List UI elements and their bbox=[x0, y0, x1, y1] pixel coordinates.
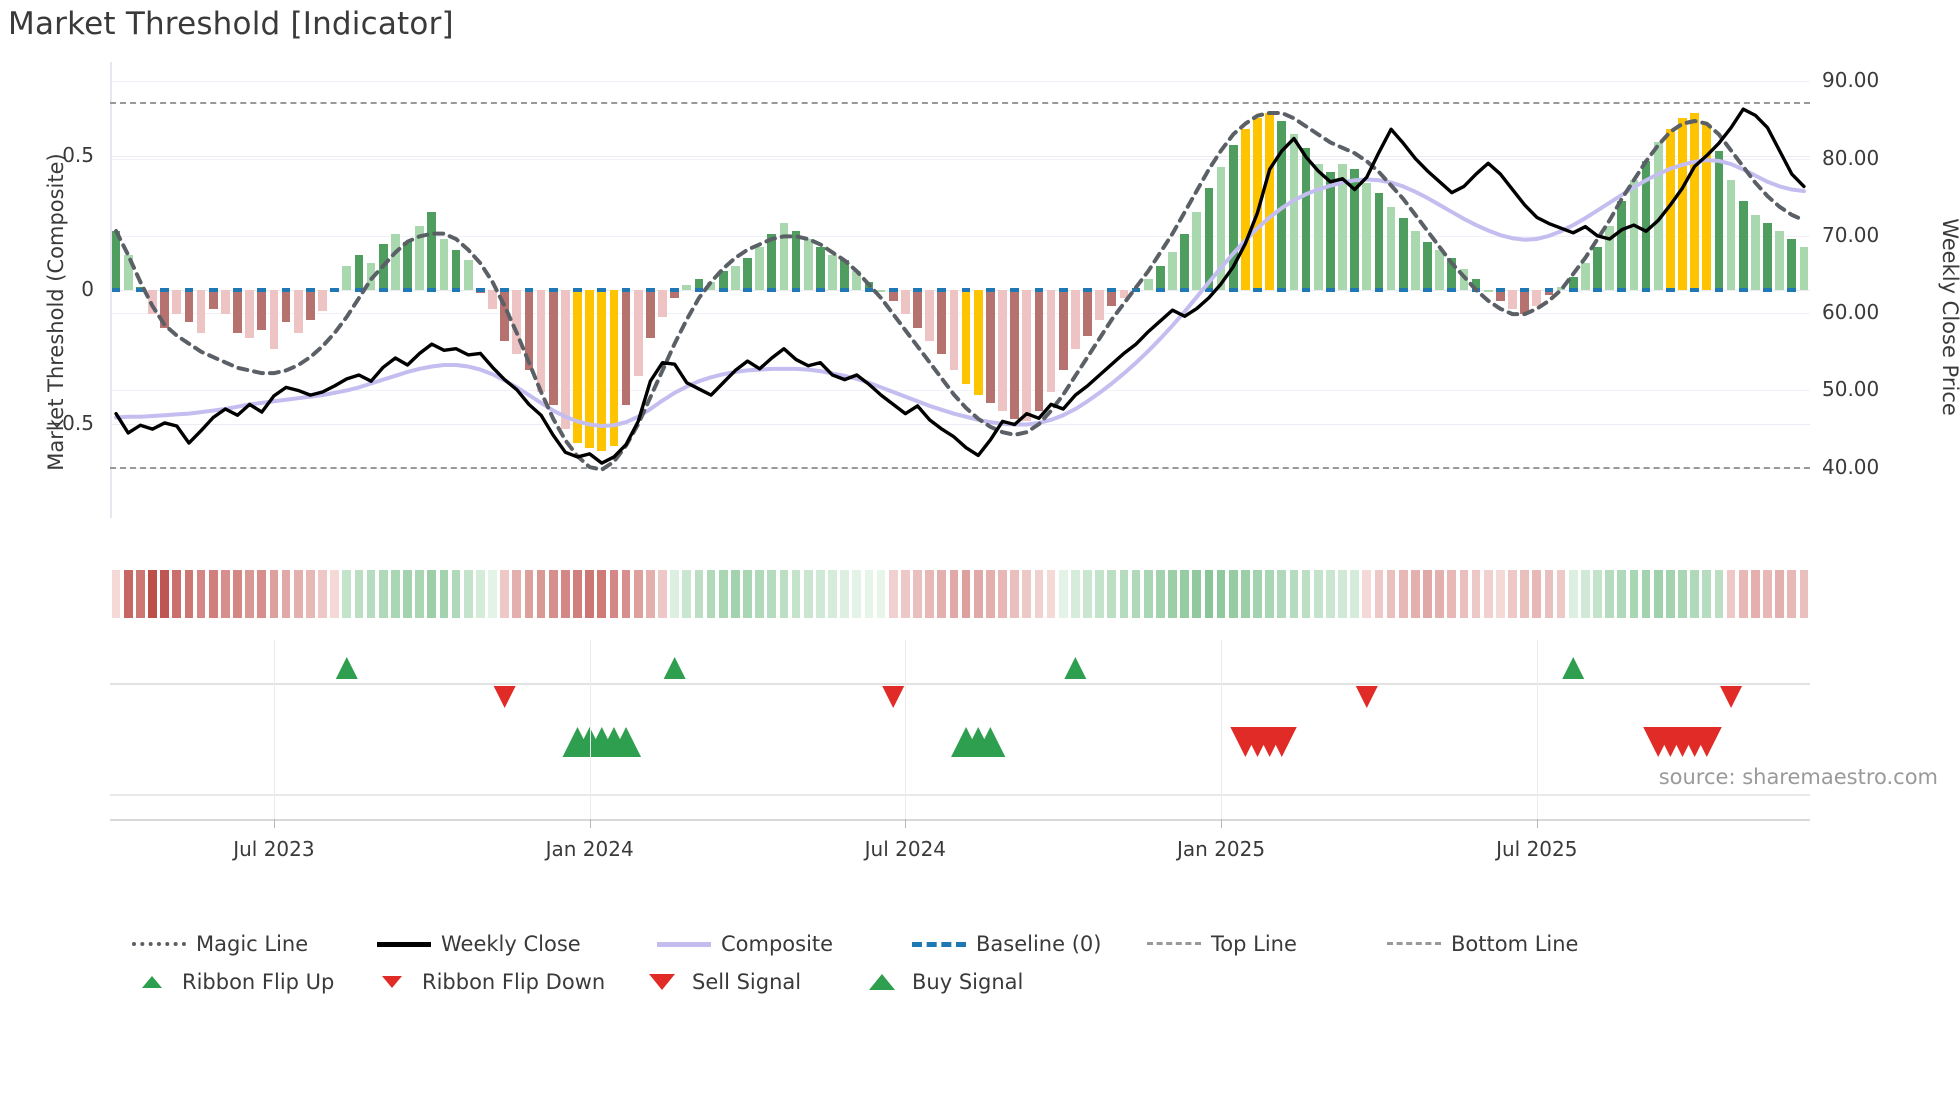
ribbon-cell bbox=[136, 570, 145, 618]
ribbon-cell bbox=[962, 570, 971, 618]
x-tick-mark bbox=[905, 819, 906, 828]
ribbon-cell bbox=[197, 570, 206, 618]
legend-swatch-line bbox=[912, 942, 966, 947]
x-tick-mark bbox=[590, 819, 591, 828]
ribbon-cell bbox=[1180, 570, 1189, 618]
x-tick-label: Jul 2023 bbox=[194, 837, 354, 861]
ribbon-cell bbox=[1095, 570, 1104, 618]
ribbon-cell bbox=[1617, 570, 1626, 618]
x-grid-line bbox=[590, 640, 591, 819]
ribbon-cell bbox=[427, 570, 436, 618]
ribbon-cell bbox=[379, 570, 388, 618]
ribbon-cell bbox=[1338, 570, 1347, 618]
signal-row-axis bbox=[110, 794, 1810, 796]
ribbon-cell bbox=[1520, 570, 1529, 618]
ribbon-cell bbox=[597, 570, 606, 618]
legend-marker-glyph bbox=[142, 976, 162, 988]
ribbon-cell bbox=[464, 570, 473, 618]
ribbon-cell bbox=[148, 570, 157, 618]
legend-item-label: Top Line bbox=[1211, 932, 1297, 956]
ribbon-cell bbox=[865, 570, 874, 618]
ribbon-cell bbox=[804, 570, 813, 618]
ribbon-cell bbox=[355, 570, 364, 618]
legend-row-markers: Ribbon Flip UpRibbon Flip DownSell Signa… bbox=[132, 963, 1832, 1001]
legend-swatch bbox=[657, 934, 711, 954]
legend-item[interactable]: Ribbon Flip Down bbox=[372, 963, 605, 1001]
ribbon-cell bbox=[488, 570, 497, 618]
ribbon-cell bbox=[1545, 570, 1554, 618]
ribbon-cell bbox=[1010, 570, 1019, 618]
legend-item[interactable]: Buy Signal bbox=[862, 963, 1023, 1001]
ribbon-cell bbox=[367, 570, 376, 618]
legend-item-label: Baseline (0) bbox=[976, 932, 1101, 956]
legend-swatch-line bbox=[1387, 942, 1441, 945]
ribbon-cell bbox=[1447, 570, 1456, 618]
ribbon-cell bbox=[755, 570, 764, 618]
legend-item[interactable]: Composite bbox=[657, 925, 833, 963]
legend-item-label: Ribbon Flip Down bbox=[422, 970, 605, 994]
x-grid-line bbox=[905, 640, 906, 819]
ribbon-cell bbox=[998, 570, 1007, 618]
ribbon-cell bbox=[1059, 570, 1068, 618]
ribbon-cell bbox=[610, 570, 619, 618]
ribbon-cell bbox=[707, 570, 716, 618]
ribbon-cell bbox=[1411, 570, 1420, 618]
ribbon-cell bbox=[828, 570, 837, 618]
ribbon-cell bbox=[1800, 570, 1809, 618]
ribbon-flip-up-marker bbox=[1562, 657, 1584, 679]
ribbon-cell bbox=[124, 570, 133, 618]
ribbon-cell bbox=[1581, 570, 1590, 618]
ribbon-cell bbox=[525, 570, 534, 618]
ribbon-flip-down-marker bbox=[1356, 686, 1378, 708]
ribbon-flip-up-marker bbox=[664, 657, 686, 679]
legend-swatch bbox=[377, 934, 431, 954]
ribbon-cell bbox=[1265, 570, 1274, 618]
ribbon-cell bbox=[1277, 570, 1286, 618]
legend-swatch-line bbox=[1147, 942, 1201, 945]
ribbon-cell bbox=[1532, 570, 1541, 618]
ribbon-cell bbox=[1678, 570, 1687, 618]
legend-item[interactable]: Weekly Close bbox=[377, 925, 581, 963]
legend-item[interactable]: Sell Signal bbox=[642, 963, 801, 1001]
x-tick-label: Jan 2025 bbox=[1141, 837, 1301, 861]
legend-item-label: Ribbon Flip Up bbox=[182, 970, 334, 994]
ribbon-flip-down-marker bbox=[882, 686, 904, 708]
ribbon-cell bbox=[1399, 570, 1408, 618]
ribbon-flip-up-marker bbox=[336, 657, 358, 679]
ribbon-cell bbox=[1387, 570, 1396, 618]
ribbon-cell bbox=[440, 570, 449, 618]
ribbon-cell bbox=[658, 570, 667, 618]
ribbon-cell bbox=[1241, 570, 1250, 618]
ribbon-cell bbox=[160, 570, 169, 618]
ribbon-cell bbox=[925, 570, 934, 618]
ribbon-cell bbox=[245, 570, 254, 618]
ribbon-cell bbox=[1217, 570, 1226, 618]
ribbon-cell bbox=[743, 570, 752, 618]
triangle-down-icon bbox=[642, 963, 682, 1001]
ribbon-cell bbox=[476, 570, 485, 618]
ribbon-cell bbox=[816, 570, 825, 618]
legend-row-primary: Magic LineWeekly CloseCompositeBaseline … bbox=[132, 925, 1832, 963]
legend-marker-glyph bbox=[382, 976, 402, 988]
ribbon-cell bbox=[767, 570, 776, 618]
ribbon-cell bbox=[1654, 570, 1663, 618]
legend-item[interactable]: Top Line bbox=[1147, 925, 1297, 963]
flip-row-axis bbox=[110, 683, 1810, 685]
ribbon-cell bbox=[1715, 570, 1724, 618]
ribbon-cell bbox=[1290, 570, 1299, 618]
ribbon-cell bbox=[950, 570, 959, 618]
legend-marker-glyph bbox=[649, 974, 675, 990]
ribbon-cell bbox=[1192, 570, 1201, 618]
ribbon-cell bbox=[549, 570, 558, 618]
legend-item[interactable]: Baseline (0) bbox=[912, 925, 1101, 963]
ribbon-flip-up-marker bbox=[1064, 657, 1086, 679]
ribbon-cell bbox=[330, 570, 339, 618]
x-tick-mark bbox=[274, 819, 275, 828]
ribbon-cell bbox=[1083, 570, 1092, 618]
x-grid-line bbox=[1221, 640, 1222, 819]
ribbon-cell bbox=[294, 570, 303, 618]
ribbon-cell bbox=[1362, 570, 1371, 618]
ribbon-cell bbox=[585, 570, 594, 618]
ribbon-cell bbox=[1047, 570, 1056, 618]
legend-item-label: Buy Signal bbox=[912, 970, 1023, 994]
ribbon-cell bbox=[270, 570, 279, 618]
ribbon-cell bbox=[1690, 570, 1699, 618]
ribbon-cell bbox=[1472, 570, 1481, 618]
ribbon-cell bbox=[840, 570, 849, 618]
ribbon-cell bbox=[1205, 570, 1214, 618]
ribbon-cell bbox=[1314, 570, 1323, 618]
ribbon-cell bbox=[1107, 570, 1116, 618]
ribbon-cell bbox=[257, 570, 266, 618]
ribbon-cell bbox=[682, 570, 691, 618]
x-tick-mark bbox=[1537, 819, 1538, 828]
ribbon-flip-down-marker bbox=[1720, 686, 1742, 708]
ribbon-cell bbox=[1666, 570, 1675, 618]
x-tick-mark bbox=[1221, 819, 1222, 828]
x-grid-line bbox=[274, 640, 275, 819]
legend-swatch bbox=[1387, 934, 1441, 954]
ribbon-cell bbox=[1702, 570, 1711, 618]
legend-item[interactable]: Magic Line bbox=[132, 925, 308, 963]
ribbon-cell bbox=[1168, 570, 1177, 618]
ribbon-cell bbox=[403, 570, 412, 618]
ribbon-cell bbox=[185, 570, 194, 618]
ribbon-cell bbox=[1156, 570, 1165, 618]
x-axis-line bbox=[110, 819, 1810, 821]
legend-item[interactable]: Bottom Line bbox=[1387, 925, 1578, 963]
ribbon-cell bbox=[646, 570, 655, 618]
ribbon-cell bbox=[318, 570, 327, 618]
ribbon-cell bbox=[282, 570, 291, 618]
ribbon-cell bbox=[1375, 570, 1384, 618]
ribbon-cell bbox=[1642, 570, 1651, 618]
ribbon-cell bbox=[1022, 570, 1031, 618]
ribbon-cell bbox=[937, 570, 946, 618]
weekly-close-line bbox=[116, 109, 1804, 463]
x-tick-label: Jul 2025 bbox=[1457, 837, 1617, 861]
legend-item-label: Magic Line bbox=[196, 932, 308, 956]
legend-swatch-line bbox=[132, 942, 186, 946]
ribbon-cell bbox=[780, 570, 789, 618]
triangle-up-icon bbox=[132, 963, 172, 1001]
ribbon-cell bbox=[415, 570, 424, 618]
source-watermark: source: sharemaestro.com bbox=[1659, 765, 1938, 789]
ribbon-cell bbox=[561, 570, 570, 618]
ribbon-cell bbox=[537, 570, 546, 618]
ribbon-cell bbox=[731, 570, 740, 618]
ribbon-cell bbox=[1035, 570, 1044, 618]
ribbon-cell bbox=[1460, 570, 1469, 618]
ribbon-cell bbox=[1496, 570, 1505, 618]
ribbon-cell bbox=[512, 570, 521, 618]
legend-swatch bbox=[1147, 934, 1201, 954]
legend-swatch-line bbox=[377, 942, 431, 947]
ribbon-cell bbox=[1763, 570, 1772, 618]
ribbon-cell bbox=[1144, 570, 1153, 618]
ribbon-cell bbox=[221, 570, 230, 618]
ribbon-cell bbox=[852, 570, 861, 618]
ribbon-cell bbox=[670, 570, 679, 618]
ribbon-cell bbox=[1253, 570, 1262, 618]
ribbon-cell bbox=[1302, 570, 1311, 618]
legend-swatch bbox=[132, 934, 186, 954]
ribbon-cell bbox=[1557, 570, 1566, 618]
ribbon-cell bbox=[1132, 570, 1141, 618]
x-tick-label: Jan 2024 bbox=[510, 837, 670, 861]
ribbon-cell bbox=[306, 570, 315, 618]
ribbon-cell bbox=[500, 570, 509, 618]
ribbon-cell bbox=[452, 570, 461, 618]
ribbon-cell bbox=[889, 570, 898, 618]
ribbon-cell bbox=[209, 570, 218, 618]
ribbon-cell bbox=[391, 570, 400, 618]
ribbon-cell bbox=[974, 570, 983, 618]
ribbon-cell bbox=[1326, 570, 1335, 618]
ribbon-cell bbox=[622, 570, 631, 618]
ribbon-cell bbox=[1787, 570, 1796, 618]
ribbon-cell bbox=[233, 570, 242, 618]
ribbon-cell bbox=[1727, 570, 1736, 618]
ribbon-cell bbox=[986, 570, 995, 618]
ribbon-cell bbox=[1569, 570, 1578, 618]
ribbon-cell bbox=[1739, 570, 1748, 618]
ribbon-cell bbox=[1775, 570, 1784, 618]
ribbon-cell bbox=[695, 570, 704, 618]
ribbon-cell bbox=[877, 570, 886, 618]
ribbon-cell bbox=[1484, 570, 1493, 618]
ribbon-cell bbox=[1435, 570, 1444, 618]
ribbon-cell bbox=[1423, 570, 1432, 618]
ribbon-cell bbox=[901, 570, 910, 618]
ribbon-flip-down-marker bbox=[494, 686, 516, 708]
legend-item[interactable]: Ribbon Flip Up bbox=[132, 963, 334, 1001]
legend-swatch bbox=[912, 934, 966, 954]
composite-line bbox=[116, 160, 1804, 426]
x-tick-label: Jul 2024 bbox=[825, 837, 985, 861]
ribbon-cell bbox=[719, 570, 728, 618]
ribbon-cell bbox=[1229, 570, 1238, 618]
ribbon-cell bbox=[112, 570, 121, 618]
ribbon-cell bbox=[573, 570, 582, 618]
ribbon-cell bbox=[792, 570, 801, 618]
legend-item-label: Sell Signal bbox=[692, 970, 801, 994]
ribbon-cell bbox=[172, 570, 181, 618]
x-grid-line bbox=[1537, 640, 1538, 819]
legend-swatch-line bbox=[657, 942, 711, 947]
ribbon-cell bbox=[1751, 570, 1760, 618]
legend-item-label: Composite bbox=[721, 932, 833, 956]
ribbon-cell bbox=[1120, 570, 1129, 618]
legend-item-label: Weekly Close bbox=[441, 932, 581, 956]
ribbon-cell bbox=[913, 570, 922, 618]
chart-legend: Magic LineWeekly CloseCompositeBaseline … bbox=[132, 925, 1832, 1001]
legend-marker-glyph bbox=[869, 974, 895, 990]
ribbon-cell bbox=[1593, 570, 1602, 618]
ribbon-cell bbox=[1350, 570, 1359, 618]
triangle-up-icon bbox=[862, 963, 902, 1001]
ribbon-cell bbox=[1071, 570, 1080, 618]
ribbon-cell bbox=[1508, 570, 1517, 618]
ribbon-cell bbox=[1605, 570, 1614, 618]
legend-item-label: Bottom Line bbox=[1451, 932, 1578, 956]
ribbon-cell bbox=[634, 570, 643, 618]
triangle-down-icon bbox=[372, 963, 412, 1001]
ribbon-cell bbox=[1630, 570, 1639, 618]
ribbon-cell bbox=[342, 570, 351, 618]
